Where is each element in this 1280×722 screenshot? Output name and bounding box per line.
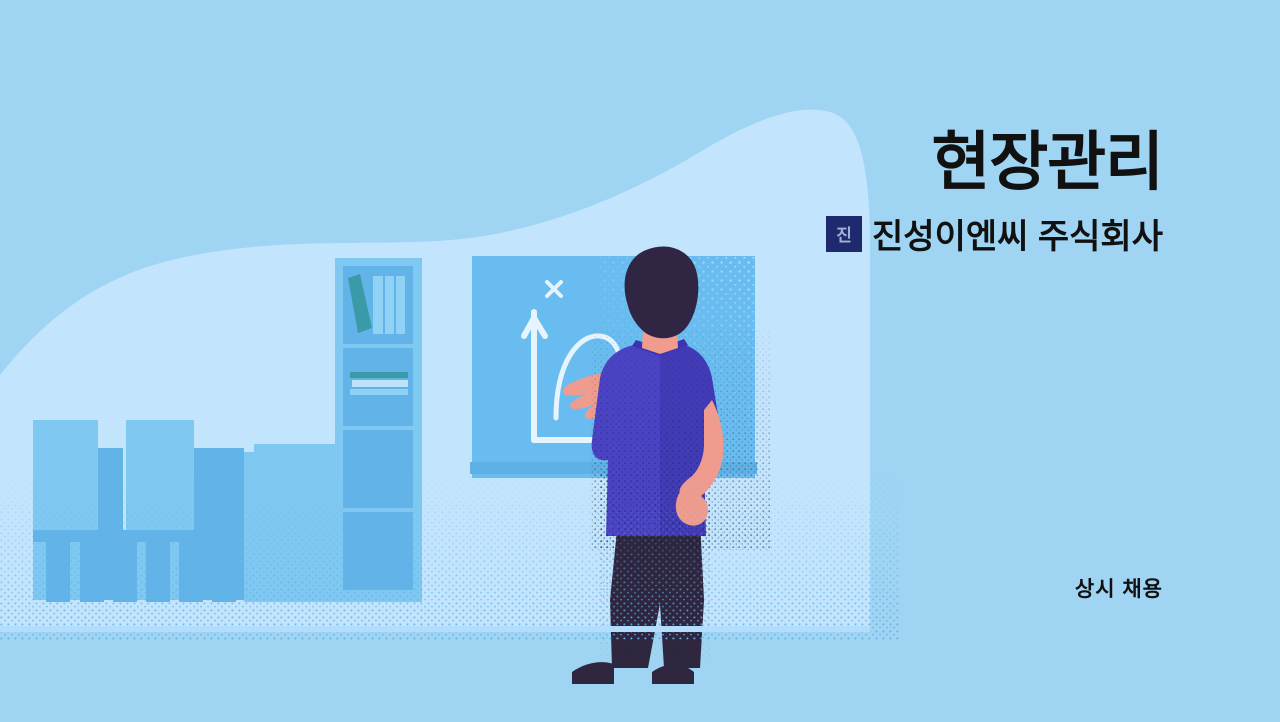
floor-edge [0,626,870,632]
job-posting-banner: 현장관리 진 진성이엔씨 주식회사 상시 채용 [0,0,1280,722]
office-illustration [0,0,1280,722]
books-stacked [350,372,408,395]
company-row[interactable]: 진 진성이엔씨 주식회사 [603,209,1163,258]
company-name: 진성이엔씨 주식회사 [872,209,1163,258]
status-badge: 상시 채용 [1075,573,1163,603]
page-title: 현장관리 [603,128,1163,197]
company-logo: 진 [826,216,862,252]
banner-text-block: 현장관리 진 진성이엔씨 주식회사 [603,128,1163,258]
books-upright [348,274,405,334]
floor-speckle-texture [0,470,900,640]
